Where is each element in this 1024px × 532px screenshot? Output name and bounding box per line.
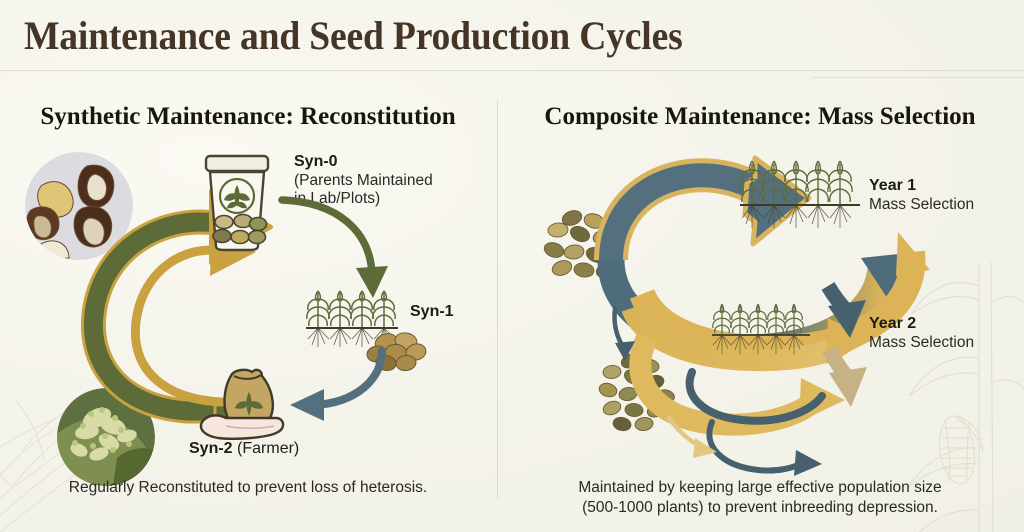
panel-caption-composite: Maintained by keeping large effective po… xyxy=(512,478,1008,518)
seed-jar-icon xyxy=(196,152,278,252)
blue-descend-arrow xyxy=(605,305,645,365)
panel-divider xyxy=(497,100,498,498)
tan-descend-arrow xyxy=(817,345,877,415)
syn0-label: Syn-0 xyxy=(294,153,338,171)
panel-caption-synthetic: Regularly Reconstituted to prevent loss … xyxy=(10,478,486,498)
corn-row-icon-year2 xyxy=(712,300,810,356)
syn2-label: Syn-2 (Farmer) xyxy=(189,440,299,458)
title-rule-right-b xyxy=(812,77,1024,78)
year2-label: Year 2 xyxy=(869,315,916,333)
syn1-label: Syn-1 xyxy=(410,303,454,321)
year1-sublabel: Mass Selection xyxy=(869,196,974,214)
title-rule-right-a xyxy=(812,70,1024,71)
green-descend-arrow xyxy=(278,192,398,302)
corn-row-icon-year1 xyxy=(740,158,860,230)
gold-small-arrow xyxy=(665,414,725,466)
panel-heading-composite: Composite Maintenance: Mass Selection xyxy=(512,103,1008,131)
title-rule xyxy=(0,70,825,71)
year1-label: Year 1 xyxy=(869,177,916,195)
page-title: Maintenance and Seed Production Cycles xyxy=(24,12,683,59)
syn2-sublabel: (Farmer) xyxy=(237,440,299,457)
hand-seedbag-icon xyxy=(196,366,292,442)
infographic-canvas: Maintenance and Seed Production Cycles S… xyxy=(0,0,1024,532)
year2-sublabel: Mass Selection xyxy=(869,334,974,352)
syn2-label-text: Syn-2 xyxy=(189,440,233,457)
panel-heading-synthetic: Synthetic Maintenance: Reconstitution xyxy=(0,103,496,131)
